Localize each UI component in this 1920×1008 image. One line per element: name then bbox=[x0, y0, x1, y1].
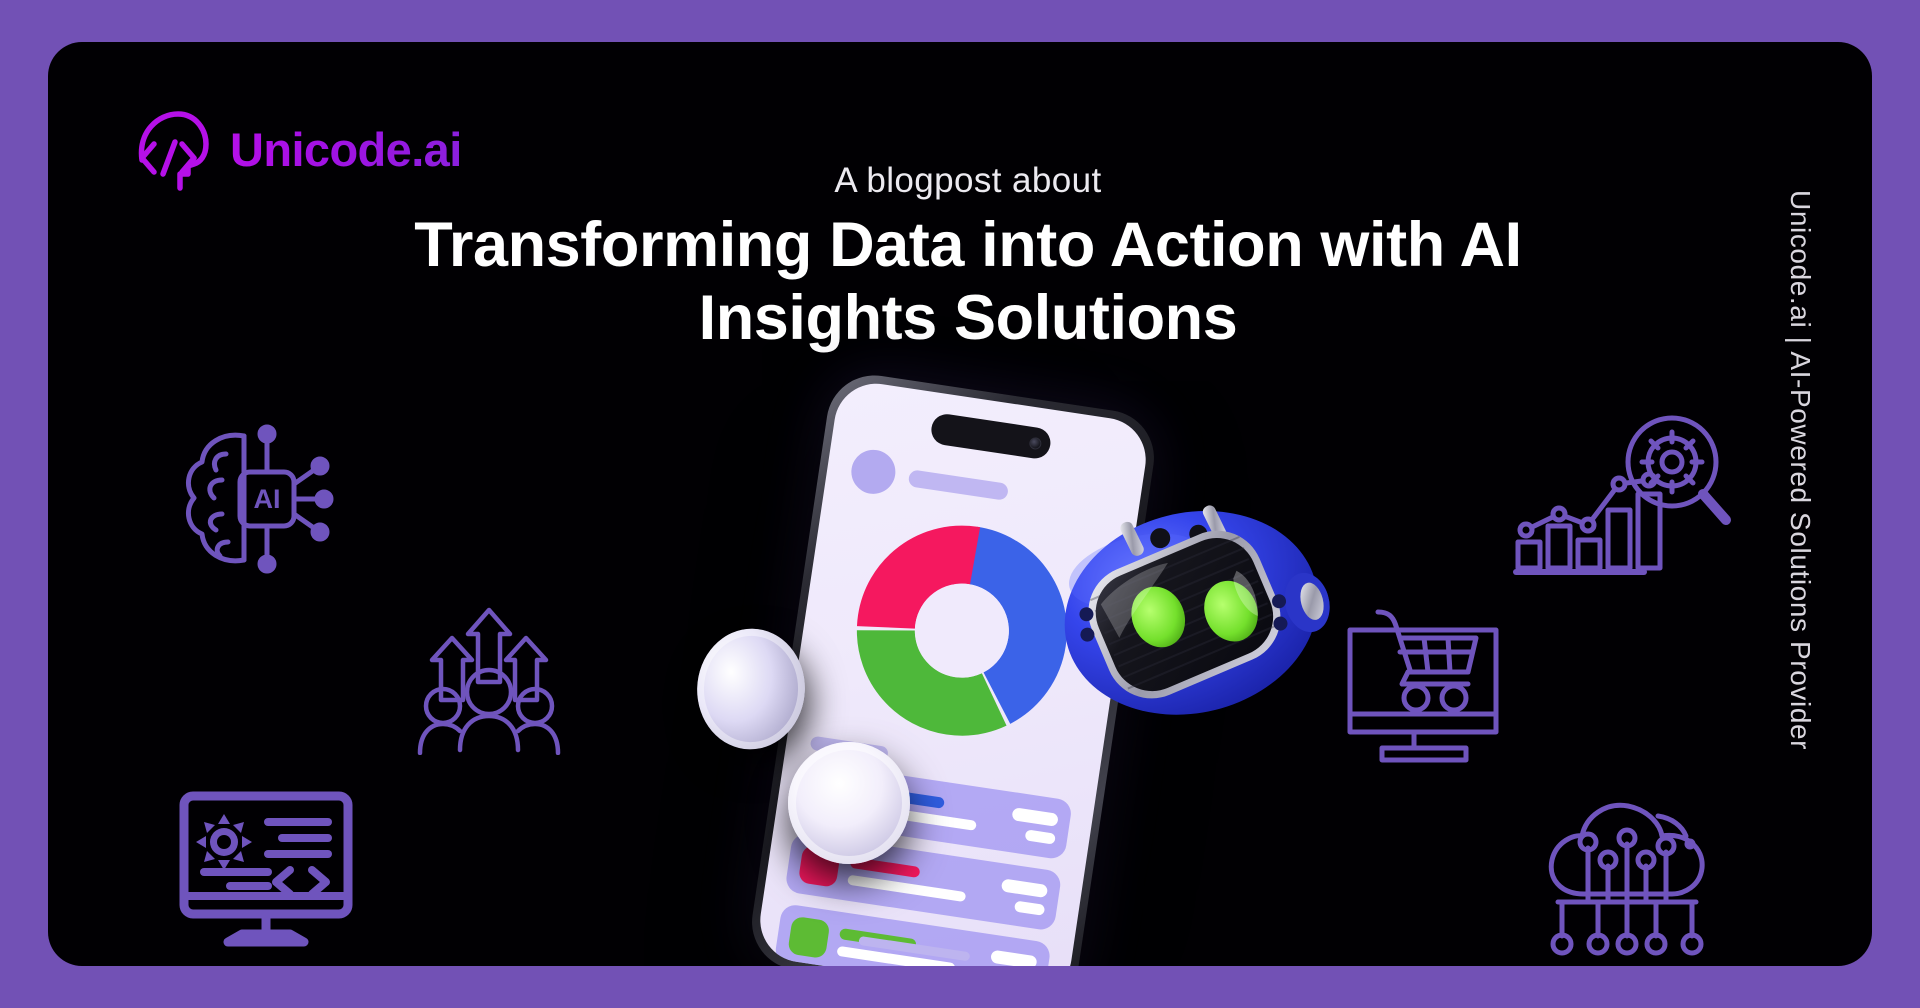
team-growth-icon bbox=[404, 590, 574, 755]
floating-disc bbox=[788, 742, 910, 864]
dev-monitor-icon bbox=[172, 784, 360, 954]
vertical-tagline-text: Unicode.ai | AI-Powered Solutions Provid… bbox=[1784, 190, 1816, 750]
data-analytics-icon bbox=[1500, 410, 1736, 582]
list-item-text bbox=[847, 857, 1002, 907]
list-item-value bbox=[998, 878, 1048, 915]
front-camera-icon bbox=[1029, 436, 1043, 450]
list-item-subtitle-placeholder bbox=[847, 875, 966, 903]
eyebrow-text: A blogpost about bbox=[348, 162, 1588, 201]
list-item-value bbox=[1009, 807, 1059, 844]
list-item-value-primary bbox=[990, 949, 1037, 966]
list-item-value-primary bbox=[1001, 878, 1048, 898]
headline-block: A blogpost about Transforming Data into … bbox=[348, 162, 1588, 355]
list-item-tile bbox=[787, 916, 830, 959]
screen-header bbox=[848, 447, 1011, 514]
header-title-placeholder bbox=[908, 469, 1009, 501]
list-item-value bbox=[988, 949, 1038, 966]
banner-frame: Unicode.ai A blogpost about Transforming… bbox=[0, 0, 1920, 1008]
svg-text:AI: AI bbox=[254, 484, 281, 514]
avatar bbox=[848, 447, 898, 497]
code-head-logo-icon bbox=[132, 108, 220, 194]
cloud-network-icon bbox=[1534, 784, 1720, 960]
ecommerce-icon bbox=[1336, 608, 1506, 766]
banner-panel: Unicode.ai A blogpost about Transforming… bbox=[48, 42, 1872, 966]
list-item-value-secondary bbox=[1014, 900, 1045, 915]
page-title: Transforming Data into Action with AI In… bbox=[348, 209, 1588, 355]
dynamic-island bbox=[929, 412, 1052, 460]
vertical-tagline: Unicode.ai | AI-Powered Solutions Provid… bbox=[1778, 190, 1822, 910]
list-item-value-primary bbox=[1011, 807, 1058, 827]
ai-brain-icon: AI bbox=[166, 410, 346, 590]
list-item-value-secondary bbox=[1025, 829, 1056, 844]
